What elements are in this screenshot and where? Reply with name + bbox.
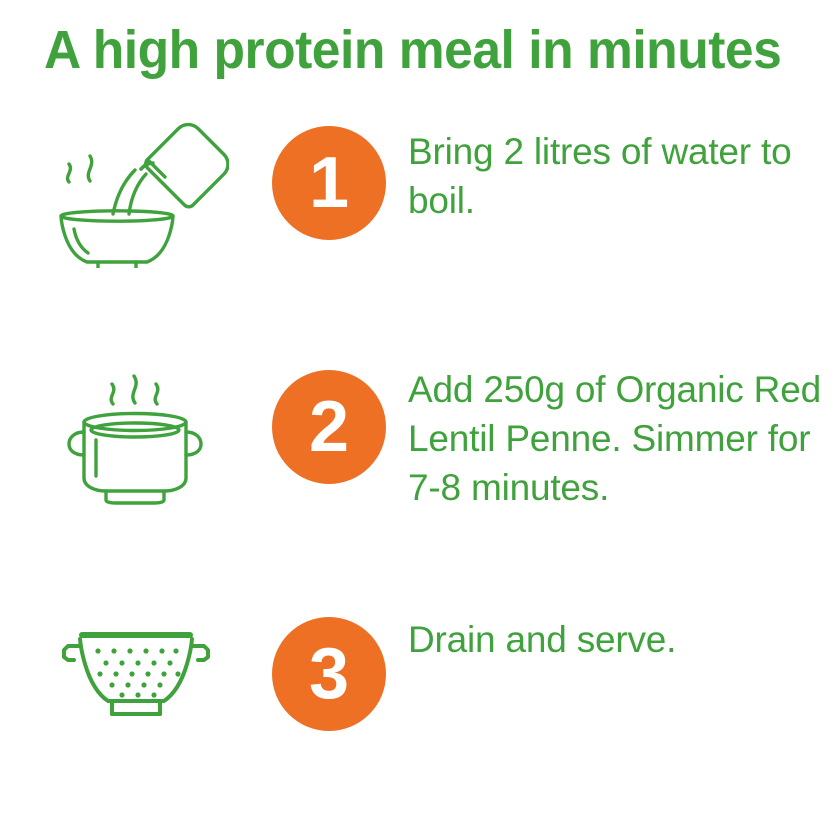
step-item-3: 3 Drain and serve. xyxy=(0,612,840,812)
page-title: A high protein meal in minutes xyxy=(44,22,770,79)
cooking-pot-steam-icon xyxy=(66,360,206,510)
step-1-number: 1 xyxy=(309,147,349,219)
step-3-number-badge[interactable]: 3 xyxy=(272,617,386,731)
step-3-text: Drain and serve. xyxy=(386,614,840,665)
step-1-icon-wrap xyxy=(0,118,272,268)
step-2-number: 2 xyxy=(309,391,349,463)
step-3-number: 3 xyxy=(309,638,349,710)
step-3-icon-wrap xyxy=(0,612,272,732)
step-item-1: 1 Bring 2 litres of water to boil. xyxy=(0,108,840,344)
colander-icon xyxy=(56,617,216,727)
step-item-2: 2 Add 250g of Organic Red Lentil Penne. … xyxy=(0,344,840,612)
instructions-poster: A high protein meal in minutes xyxy=(0,0,840,840)
step-1-number-badge[interactable]: 1 xyxy=(272,126,386,240)
step-1-text: Bring 2 litres of water to boil. xyxy=(386,126,840,226)
bowl-pouring-jug-icon xyxy=(43,118,229,268)
step-2-number-badge[interactable]: 2 xyxy=(272,370,386,484)
step-2-icon-wrap xyxy=(0,360,272,510)
steps-list: 1 Bring 2 litres of water to boil. xyxy=(0,108,840,812)
step-2-text: Add 250g of Organic Red Lentil Penne. Si… xyxy=(386,364,840,512)
